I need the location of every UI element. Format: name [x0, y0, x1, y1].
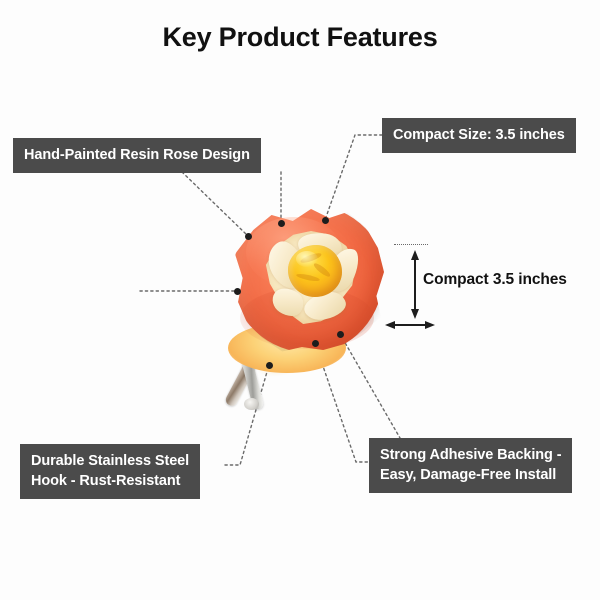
callout-hand-painted-resin-rose-design[interactable]: Hand-Painted Resin Rose Design [13, 138, 261, 173]
anchor-rose-top [278, 220, 285, 227]
callout-strong-adhesive-backing[interactable]: Strong Adhesive Backing - Easy, Damage-F… [369, 438, 572, 493]
product-photo-rose-hook [200, 195, 405, 425]
callout-durable-stainless-steel-hook[interactable]: Durable Stainless Steel Hook - Rust-Resi… [20, 444, 200, 499]
anchor-rose-lower-left [312, 340, 319, 347]
infographic-canvas: Key Product Features [0, 0, 600, 600]
callout-compact-size[interactable]: Compact Size: 3.5 inches [382, 118, 576, 153]
dimension-label: Compact 3.5 inches [423, 271, 567, 289]
anchor-rose-upper-left [245, 233, 252, 240]
page-title: Key Product Features [0, 22, 600, 53]
anchor-rose-top-right [322, 217, 329, 224]
dimension-tick-mark [394, 244, 428, 246]
anchor-rose-lower-right [337, 331, 344, 338]
anchor-rose-left [234, 288, 241, 295]
dimension-annotation: Compact 3.5 inches [380, 240, 600, 340]
rose-core-highlight [296, 251, 318, 267]
hook-foot [244, 398, 259, 410]
anchor-hook [266, 362, 273, 369]
